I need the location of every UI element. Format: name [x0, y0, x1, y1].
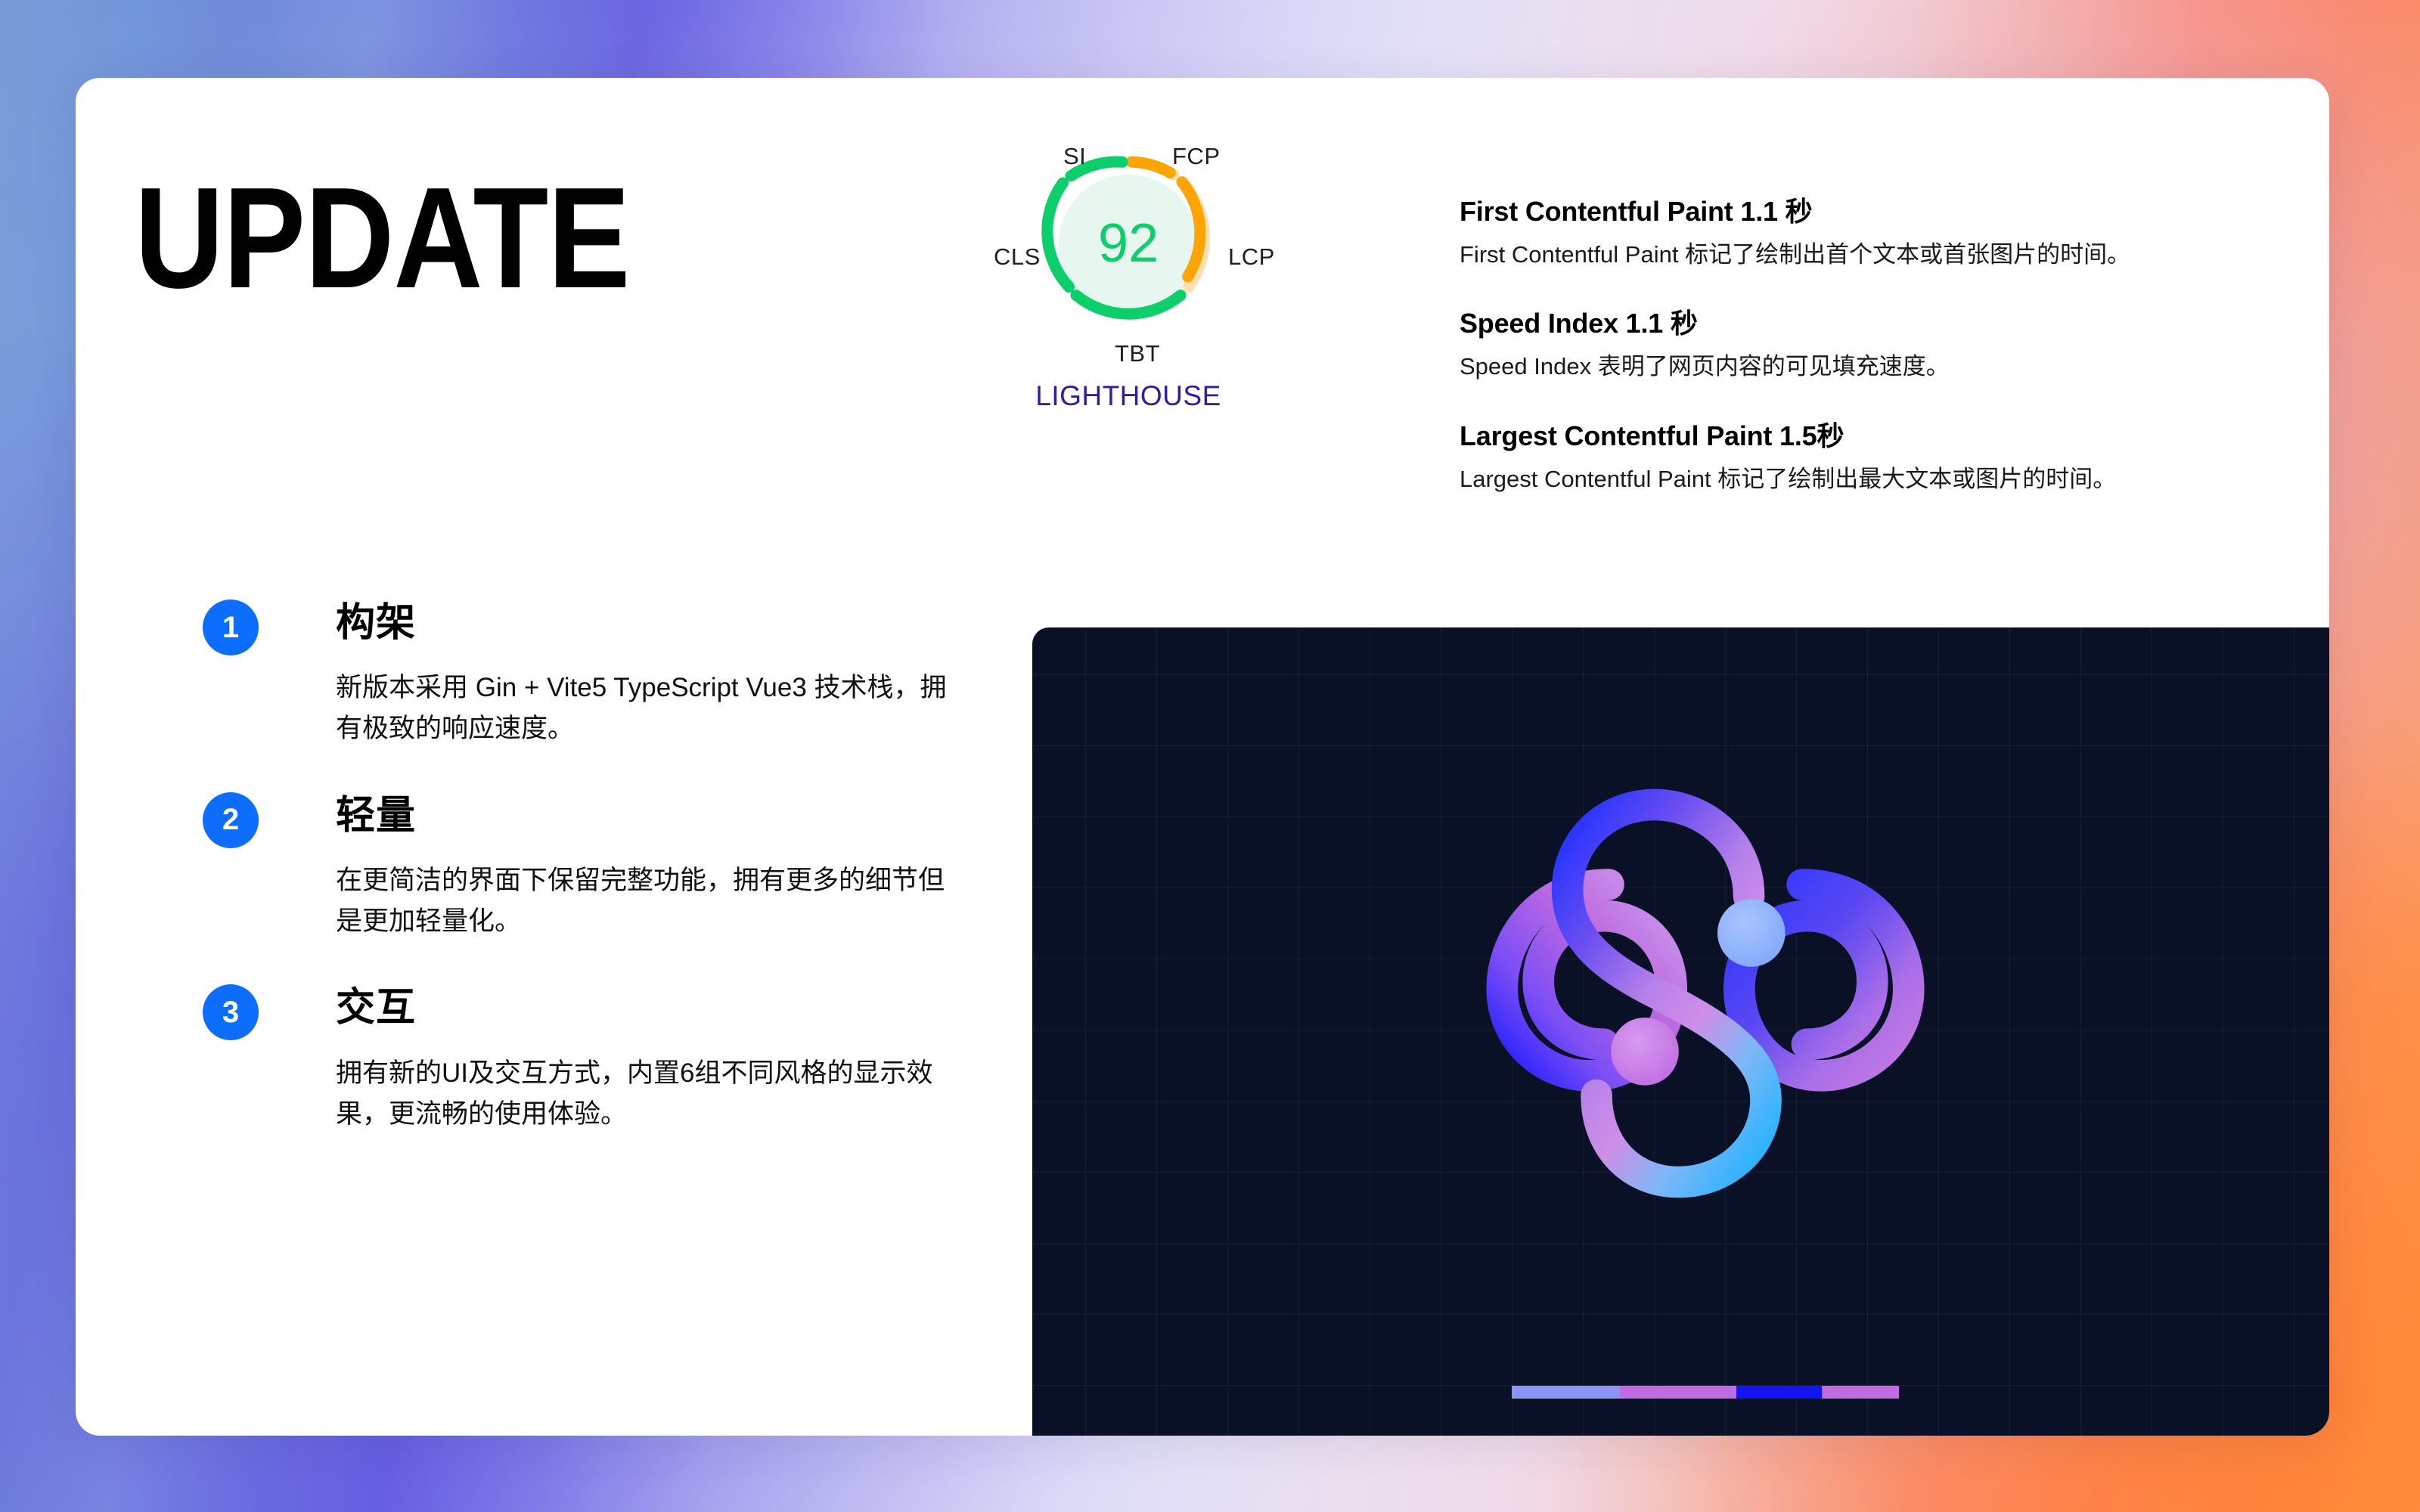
slide-canvas: UPDATE — [0, 0, 2420, 1512]
lighthouse-gauge: SI FCP CLS LCP TBT 92 LIGHTHOUSE — [1000, 125, 1257, 352]
page-title: UPDATE — [135, 170, 630, 307]
feature-heading: 交互 — [336, 984, 959, 1030]
progress-segment-4 — [1822, 1386, 1899, 1399]
feature-item-2: 2 轻量 在更简洁的界面下保留完整功能，拥有更多的细节但是更加轻量化。 — [203, 792, 959, 943]
feature-item-1: 1 构架 新版本采用 Gin + Vite5 TypeScript Vue3 技… — [203, 600, 959, 750]
metric-item: Largest Contentful Paint 1.5秒 Largest Co… — [1460, 414, 2284, 494]
feature-heading: 构架 — [336, 600, 959, 645]
metrics-list: First Contentful Paint 1.1 秒 First Conte… — [1460, 190, 2284, 494]
metric-description: Largest Contentful Paint 标记了绘制出最大文本或图片的时… — [1460, 464, 2284, 494]
metric-description: Speed Index 表明了网页内容的可见填充速度。 — [1460, 352, 2284, 382]
panel-progress-bar — [1512, 1386, 1899, 1399]
feature-heading: 轻量 — [336, 792, 959, 838]
metric-item: First Contentful Paint 1.1 秒 First Conte… — [1460, 190, 2284, 270]
gauge-label-cls: CLS — [994, 243, 1041, 271]
metric-title: Speed Index 1.1 秒 — [1460, 302, 2284, 341]
fcp-arc — [1132, 162, 1171, 172]
feature-list: 1 构架 新版本采用 Gin + Vite5 TypeScript Vue3 技… — [203, 600, 959, 1135]
feature-body: 拥有新的UI及交互方式，内置6组不同风格的显示效果，更流畅的使用体验。 — [336, 1053, 959, 1136]
gauge-label-fcp: FCP — [1172, 143, 1221, 170]
metric-title: Largest Contentful Paint 1.5秒 — [1460, 414, 2284, 454]
slide-card: UPDATE — [76, 78, 2329, 1436]
logo-node-upper — [1717, 899, 1786, 967]
feature-body: 新版本采用 Gin + Vite5 TypeScript Vue3 技术栈，拥有… — [336, 668, 959, 750]
gauge-label-lcp: LCP — [1228, 243, 1275, 271]
feature-number-badge: 3 — [203, 984, 259, 1040]
dark-showcase-panel — [1032, 627, 2329, 1436]
logo-node-lower — [1611, 1018, 1679, 1086]
feature-item-3: 3 交互 拥有新的UI及交互方式，内置6组不同风格的显示效果，更流畅的使用体验。 — [203, 984, 959, 1135]
gauge-label-si: SI — [1063, 143, 1086, 170]
metric-description: First Contentful Paint 标记了绘制出首个文本或首张图片的时… — [1460, 240, 2284, 270]
feature-number-badge: 1 — [203, 600, 259, 655]
metric-title: First Contentful Paint 1.1 秒 — [1460, 190, 2284, 229]
progress-segment-2 — [1620, 1386, 1736, 1399]
feature-body: 在更简洁的界面下保留完整功能，拥有更多的细节但是更加轻量化。 — [336, 860, 959, 943]
feature-number-badge: 2 — [203, 792, 259, 848]
progress-segment-1 — [1512, 1386, 1620, 1399]
brand-logo-icon — [1463, 751, 1947, 1235]
lighthouse-score: 92 — [1038, 212, 1219, 274]
metric-item: Speed Index 1.1 秒 Speed Index 表明了网页内容的可见… — [1460, 302, 2284, 382]
progress-segment-3 — [1736, 1386, 1822, 1399]
lighthouse-brand-label: LIGHTHOUSE — [989, 380, 1267, 412]
gauge-label-tbt: TBT — [1115, 340, 1160, 367]
